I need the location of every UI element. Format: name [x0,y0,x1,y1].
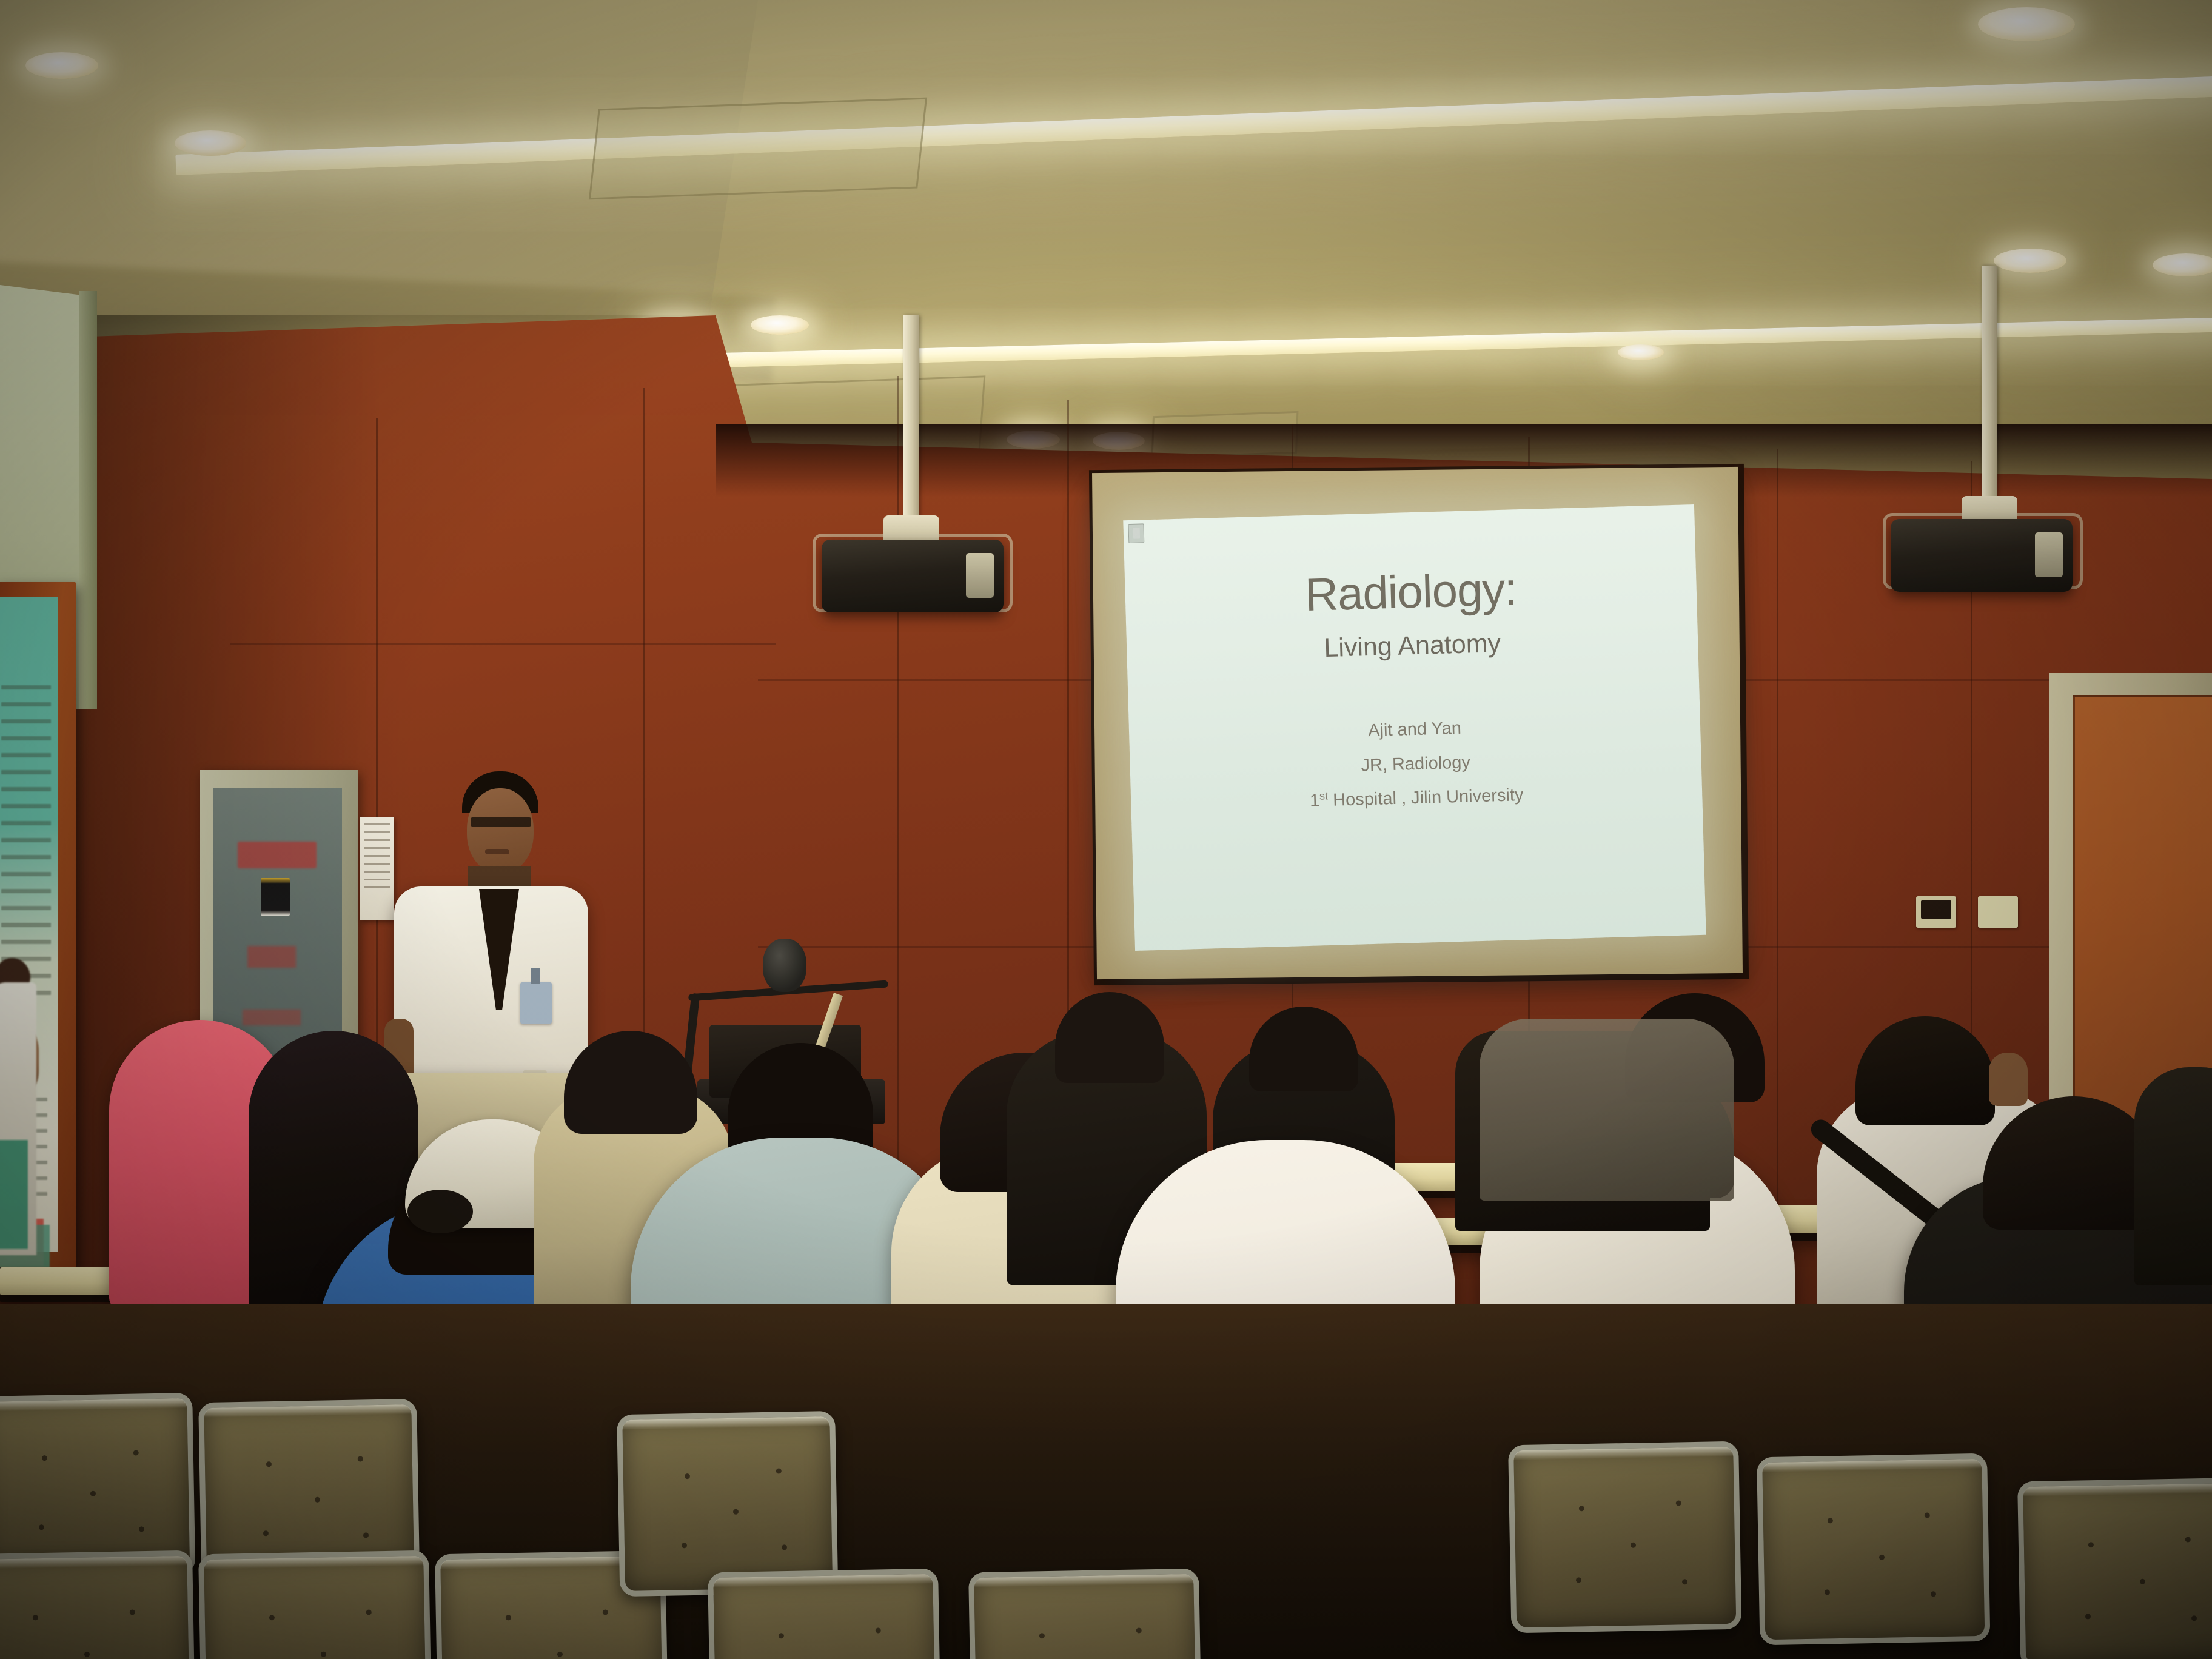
seat-tuft [876,1627,881,1633]
door-chinese-sign-middle [247,946,296,968]
seat-tuft [130,1609,135,1615]
seat-tuft [1576,1577,1581,1583]
seat-tuft [2140,1579,2145,1584]
wall-panel-seam-horizontal [230,643,776,645]
seat-tuft [782,1544,787,1550]
seat-tuft [1825,1589,1830,1595]
auditorium-seat[interactable] [1508,1441,1742,1652]
seat-tuft [363,1532,369,1538]
presenter-mouth [485,849,509,854]
seat-tuft [603,1609,608,1615]
auditorium-seat[interactable] [1757,1453,1991,1659]
seat-tuft [1682,1579,1687,1584]
id-badge-clip [531,968,540,984]
standing-person-bag [0,1140,28,1249]
door-chinese-sign-bottom [243,1010,301,1025]
seat-tuft [1879,1555,1885,1560]
eyeglasses [471,817,531,827]
attendee-far-right [2134,1067,2212,1285]
presenter-head [467,788,534,873]
seat-tuft [1631,1543,1636,1548]
seat-tuft [681,1543,686,1548]
power-outlet[interactable] [1916,896,1956,928]
seat-tuft [2191,1615,2197,1621]
seat-tuft [366,1609,372,1615]
auditorium-seat[interactable] [2017,1478,2212,1659]
projector-mount-pole [903,315,919,521]
seat-tuft [1925,1512,1930,1518]
auditorium-seat[interactable] [708,1569,942,1659]
seat-tuft [2085,1614,2091,1619]
seat-back [968,1569,1202,1659]
ceiling-downlight [751,315,809,335]
seat-tuft [84,1652,90,1657]
raised-hand [1989,1053,2028,1106]
seat-tuft [776,1468,782,1473]
ceiling-downlight [1978,7,2075,41]
seat-back [708,1569,941,1659]
ceiling-projector [1891,519,2073,592]
door-chinese-sign-top [238,842,317,868]
ceiling-vent [589,98,927,200]
door-plaque-sign [261,878,290,916]
seat-tuft [139,1526,144,1532]
seat-tuft [779,1633,784,1638]
seat-back [198,1550,432,1659]
seat-back [617,1411,838,1597]
seat-tuft [315,1497,320,1503]
seat-tuft [685,1473,690,1479]
seat-tuft [90,1491,96,1496]
wall-panel-seam [1777,449,1778,1310]
seat-tuft [1828,1518,1833,1523]
seat-back [1508,1441,1741,1634]
seat-tuft [358,1456,363,1461]
seat-tuft [1039,1633,1045,1638]
microphone-head [763,939,806,992]
light-switch[interactable] [1978,896,2018,928]
seat-tuft [133,1450,139,1455]
wall-green-edge [79,291,97,709]
seat-tuft [269,1615,275,1620]
seat-tuft [42,1455,47,1461]
auditorium-seat[interactable] [198,1550,432,1659]
seat-tuft [263,1530,268,1536]
ceiling-downlight [1994,249,2066,273]
id-badge [520,982,552,1024]
seat-tuft [557,1652,563,1657]
auditorium-seat[interactable] [968,1569,1202,1659]
seat-tuft [1579,1506,1584,1511]
seat-tuft [2088,1542,2094,1547]
seat-tuft [1136,1627,1142,1633]
cap-brim-back [407,1190,473,1233]
ceiling-projector [822,540,1004,612]
seat-tuft [506,1615,511,1620]
seat-back [2017,1478,2212,1659]
slide-subtitle: Living Anatomy [1127,623,1698,669]
seat-back [1757,1453,1990,1646]
seat-tuft [321,1652,326,1657]
ceiling-downlight [1618,344,1664,360]
placeholder-image-icon [1128,523,1144,543]
ceiling-downlight [25,52,98,79]
attendee-grey-blazer [1480,1019,1734,1201]
seat-tuft [733,1509,739,1515]
seat-tuft [1931,1591,1936,1597]
seat-tuft [33,1615,38,1620]
seat-tuft [38,1524,44,1530]
seat-tuft [2185,1537,2191,1542]
seat-back [0,1550,195,1659]
seat-tuft [1676,1500,1681,1506]
posted-paper-notice [360,817,394,920]
slide-byline: Ajit and Yan JR, Radiology 1st Hospital … [1128,705,1702,823]
lecture-hall-photo: Radiology: Living Anatomy Ajit and Yan J… [0,0,2212,1659]
wall-panel-seam [897,376,899,1237]
slide-title: Radiology: [1125,558,1697,626]
seat-tuft [266,1461,272,1467]
ceiling-downlight [175,130,246,156]
projector-mount-pole [1982,266,1997,502]
auditorium-seat[interactable] [0,1550,196,1659]
presentation-slide: Radiology: Living Anatomy Ajit and Yan J… [1123,504,1706,951]
